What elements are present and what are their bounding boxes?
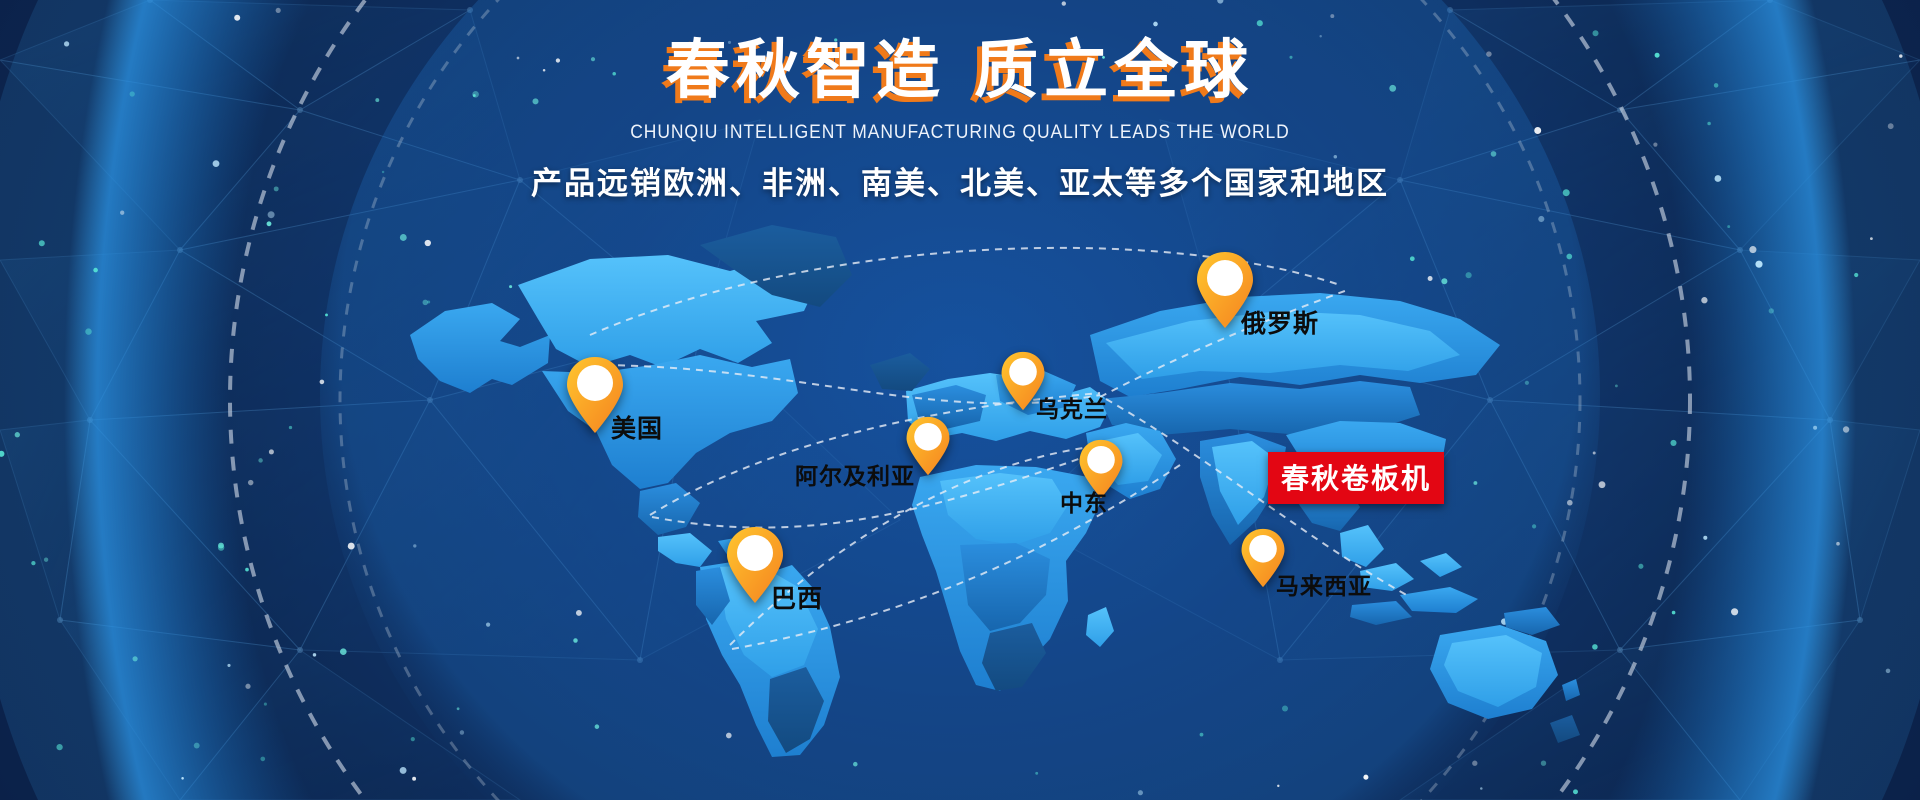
marker-label: 俄罗斯 <box>1241 304 1319 340</box>
marker-label: 中东 <box>1060 484 1108 518</box>
world-map-banner: 春秋智造 质立全球 CHUNQIU INTELLIGENT MANUFACTUR… <box>0 0 1920 800</box>
marker-label: 乌克兰 <box>1036 390 1108 424</box>
page-subtitle-english: CHUNQIU INTELLIGENT MANUFACTURING QUALIT… <box>77 122 1843 144</box>
marker-brazil[interactable]: 巴西 <box>725 525 785 605</box>
headline-block: 春秋智造 质立全球 CHUNQIU INTELLIGENT MANUFACTUR… <box>0 38 1920 203</box>
marker-label: 马来西亚 <box>1276 567 1372 601</box>
page-tagline-chinese: 产品远销欧洲、非洲、南美、北美、亚太等多个国家和地区 <box>0 158 1920 203</box>
marker-label: 阿尔及利亚 <box>795 457 915 491</box>
marker-russia[interactable]: 俄罗斯 <box>1195 250 1255 330</box>
marker-ukraine[interactable]: 乌克兰 <box>1000 350 1046 412</box>
product-badge[interactable]: 春秋卷板机 <box>1268 452 1444 504</box>
page-title: 春秋智造 质立全球 <box>0 38 1920 106</box>
marker-middle-east[interactable]: 中东 <box>1078 438 1124 500</box>
marker-usa[interactable]: 美国 <box>565 355 625 435</box>
marker-algeria[interactable]: 阿尔及利亚 <box>905 415 951 477</box>
marker-label: 美国 <box>611 409 663 445</box>
marker-malaysia[interactable]: 马来西亚 <box>1240 527 1286 589</box>
marker-label: 巴西 <box>771 579 823 615</box>
